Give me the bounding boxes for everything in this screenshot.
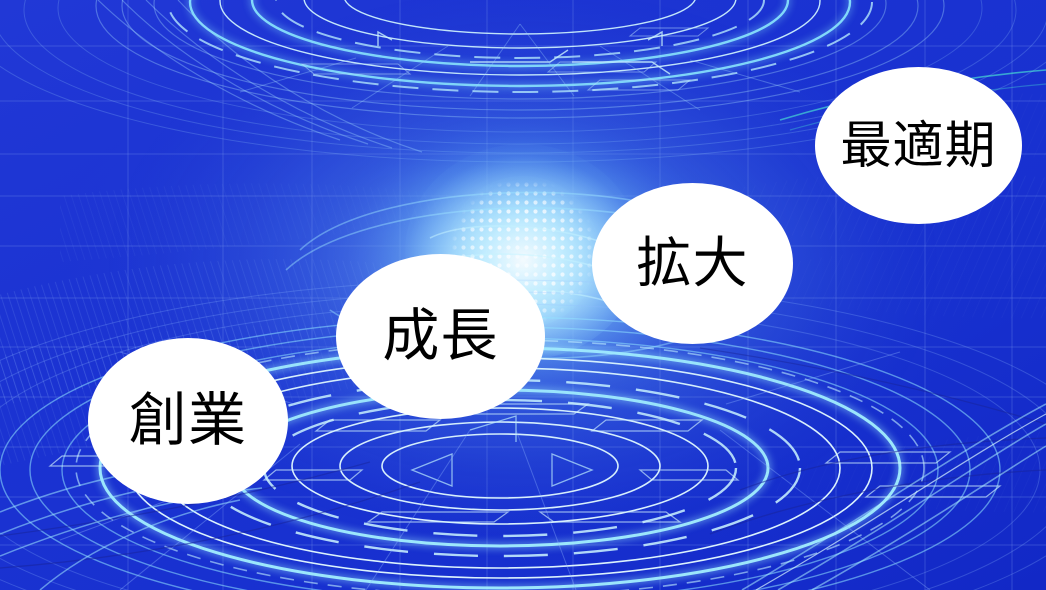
bubble-expansion[interactable]: 拡大 bbox=[592, 183, 793, 344]
bubble-founding-label: 創業 bbox=[129, 392, 247, 450]
bubble-growth[interactable]: 成長 bbox=[336, 254, 545, 419]
graphic-canvas: 創業 成長 拡大 最適期 bbox=[0, 0, 1046, 590]
bubble-peak-label: 最適期 bbox=[840, 120, 996, 171]
bubble-growth-label: 成長 bbox=[382, 308, 498, 365]
bubble-peak[interactable]: 最適期 bbox=[815, 67, 1022, 224]
stage-bubble-group: 創業 成長 拡大 最適期 bbox=[0, 0, 1046, 590]
bubble-founding[interactable]: 創業 bbox=[88, 338, 288, 504]
bubble-expansion-label: 拡大 bbox=[636, 236, 748, 291]
